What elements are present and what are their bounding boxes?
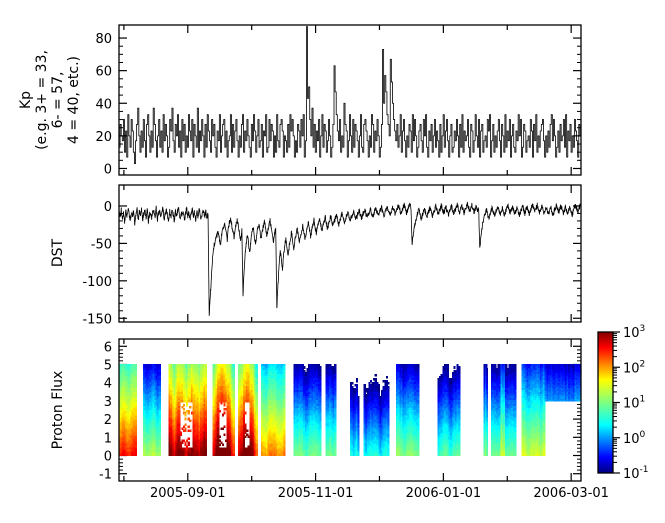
ytick-label: 20	[95, 130, 112, 145]
proton-flux-ylabel: Proton Flux	[50, 371, 66, 450]
xtick-label: 2006-03-01	[533, 486, 609, 501]
kp-ylabel-line-3: 6- = 57,	[50, 72, 66, 129]
kp-ylabel-line-4: 4 = 40, etc.)	[66, 56, 82, 144]
ytick-label: -150	[82, 312, 112, 327]
ytick-label: -100	[82, 275, 112, 290]
figure-svg: Kp (e.g. 3+ = 33, 6- = 57, 4 = 40, etc.)…	[0, 0, 665, 523]
figure-root: Kp (e.g. 3+ = 33, 6- = 57, 4 = 40, etc.)…	[0, 0, 665, 523]
ytick-label: 0	[104, 450, 112, 465]
ytick-label: 2	[104, 413, 112, 428]
ytick-label: 1	[104, 431, 112, 446]
ytick-label: -1	[99, 468, 112, 483]
xtick-label: 2005-09-01	[150, 486, 226, 501]
ytick-label: 0	[104, 162, 112, 177]
ytick-label: -50	[91, 237, 112, 252]
ytick-label: 80	[95, 32, 112, 47]
kp-ylabel-line-2: (e.g. 3+ = 33,	[34, 50, 50, 150]
colorbar-gradient	[598, 332, 613, 473]
xtick-label: 2005-11-01	[278, 486, 354, 501]
dst-ylabel: DST	[50, 238, 66, 267]
ytick-label: 60	[95, 65, 112, 80]
ytick-label: 6	[104, 340, 112, 355]
ytick-label: 5	[104, 358, 112, 373]
ytick-label: 40	[95, 97, 112, 112]
ytick-label: 0	[104, 200, 112, 215]
ytick-label: 4	[104, 377, 112, 392]
kp-ylabel-line-1: Kp	[18, 91, 34, 109]
xtick-label: 2006-01-01	[406, 486, 482, 501]
ytick-label: 3	[104, 395, 112, 410]
